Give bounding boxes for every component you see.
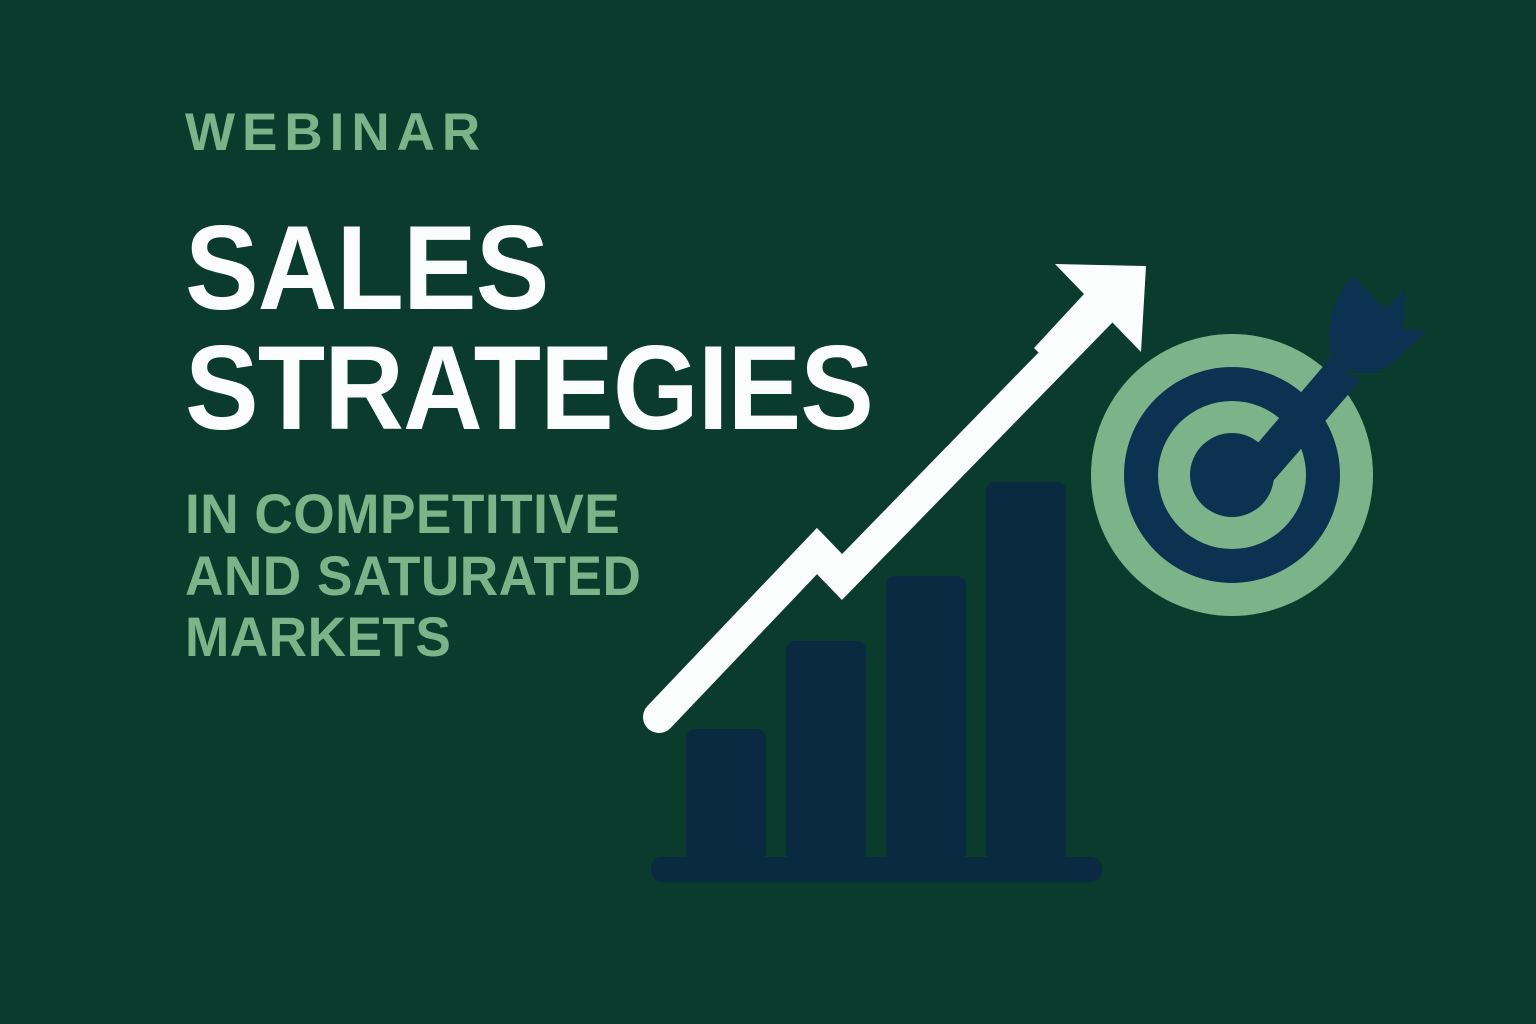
- growth-trend-arrow-icon: [659, 264, 1146, 717]
- trend-arrow-line: [659, 299, 1113, 717]
- trend-arrow-layer: [0, 0, 1536, 1024]
- trend-arrow-head: [1034, 264, 1146, 374]
- poster-canvas: WEBINAR SALES STRATEGIES IN COMPETITIVE …: [0, 0, 1536, 1024]
